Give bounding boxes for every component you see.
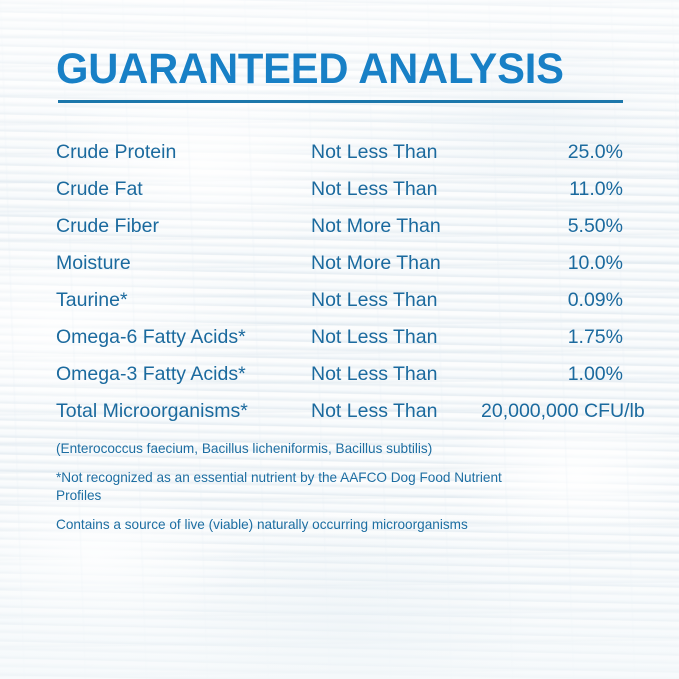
nutrient-value: 1.00% [481,363,623,386]
table-row: Crude Fat Not Less Than 11.0% [56,178,623,215]
nutrient-name: Omega-6 Fatty Acids* [56,326,311,349]
table-row: Moisture Not More Than 10.0% [56,252,623,289]
nutrient-name: Total Microorganisms* [56,400,311,423]
nutrient-qualifier: Not Less Than [311,141,481,164]
nutrient-qualifier: Not Less Than [311,289,481,312]
nutrient-qualifier: Not More Than [311,215,481,238]
footnotes: (Enterococcus faecium, Bacillus lichenif… [56,440,616,534]
nutrient-value: 1.75% [481,326,623,349]
nutrient-value: 25.0% [481,141,623,164]
footnote-organisms: (Enterococcus faecium, Bacillus lichenif… [56,440,616,458]
table-row: Taurine* Not Less Than 0.09% [56,289,623,326]
nutrient-value: 0.09% [481,289,623,312]
footnote-live-cultures: Contains a source of live (viable) natur… [56,516,616,534]
nutrient-name: Moisture [56,252,311,275]
nutrient-qualifier: Not Less Than [311,400,481,423]
nutrient-qualifier: Not Less Than [311,326,481,349]
table-row: Total Microorganisms* Not Less Than 20,0… [56,400,623,437]
guaranteed-analysis-table: Crude Protein Not Less Than 25.0% Crude … [56,141,623,437]
nutrient-value: 10.0% [481,252,623,275]
nutrient-qualifier: Not More Than [311,252,481,275]
nutrient-value: 11.0% [481,178,623,201]
nutrient-value: 20,000,000 CFU/lb [481,400,645,423]
table-row: Omega-3 Fatty Acids* Not Less Than 1.00% [56,363,623,400]
nutrient-qualifier: Not Less Than [311,363,481,386]
table-row: Crude Protein Not Less Than 25.0% [56,141,623,178]
guaranteed-analysis-panel: GUARANTEED ANALYSIS Crude Protein Not Le… [0,0,679,679]
nutrient-name: Crude Fat [56,178,311,201]
nutrient-name: Crude Fiber [56,215,311,238]
title-divider [58,100,623,103]
page-title: GUARANTEED ANALYSIS [56,44,564,94]
nutrient-name: Crude Protein [56,141,311,164]
nutrient-name: Taurine* [56,289,311,312]
footnote-aafco: *Not recognized as an essential nutrient… [56,469,526,505]
nutrient-qualifier: Not Less Than [311,178,481,201]
nutrient-value: 5.50% [481,215,623,238]
table-row: Crude Fiber Not More Than 5.50% [56,215,623,252]
table-row: Omega-6 Fatty Acids* Not Less Than 1.75% [56,326,623,363]
nutrient-name: Omega-3 Fatty Acids* [56,363,311,386]
